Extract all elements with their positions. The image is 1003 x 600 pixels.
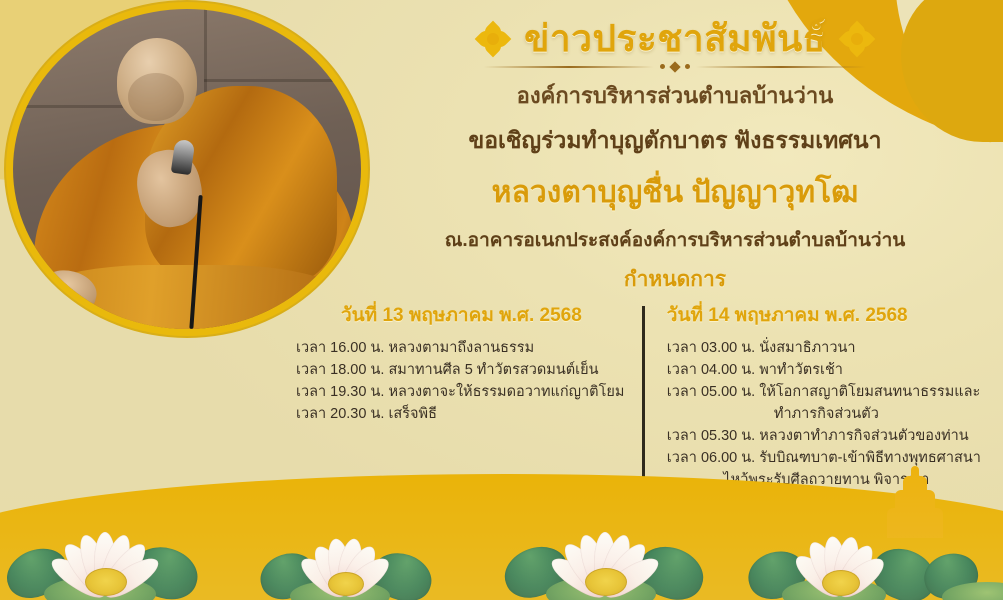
schedule-day2-heading: วันที่ 14 พฤษภาคม พ.ศ. 2568 (667, 300, 986, 330)
monk-photo-frame (6, 2, 368, 336)
monk-face-shadow (128, 73, 184, 121)
title-row: ข่าวประชาสัมพันธ์ (360, 18, 990, 61)
band-fade-overlay (0, 470, 1003, 600)
organization-name: องค์การบริหารส่วนตำบลบ้านว่าน (360, 78, 990, 113)
schedule-day1-heading: วันที่ 13 พฤษภาคม พ.ศ. 2568 (296, 300, 627, 330)
schedule-item: เวลา 16.00 น. หลวงตามาถึงลานธรรม (296, 337, 627, 359)
schedule-item: เวลา 18.00 น. สมาทานศีล 5 ทำวัตรสวดมนต์เ… (296, 359, 627, 381)
floret-icon-left (478, 24, 508, 54)
monk-name: หลวงตาบุญชื่น ปัญญาวุทโฒ (360, 169, 990, 216)
schedule-item: เวลา 20.30 น. เสร็จพิธี (296, 403, 627, 425)
title-divider-rule (360, 63, 990, 71)
schedule-item: เวลา 19.30 น. หลวงตาจะให้ธรรมดอวาทแก่ญาต… (296, 381, 627, 403)
schedule-item: เวลา 04.00 น. พาทำวัตรเช้า (667, 359, 986, 381)
header-block: ข่าวประชาสัมพันธ์ องค์การบริหารส่วนตำบลบ… (360, 18, 990, 296)
schedule-item: เวลา 03.00 น. นั่งสมาธิภาวนา (667, 337, 986, 359)
schedule-item: เวลา 05.30 น. หลวงตาทำภารกิจส่วนตัวของท่… (667, 425, 986, 447)
page-title: ข่าวประชาสัมพันธ์ (524, 18, 826, 61)
venue-line: ณ.อาคารอเนกประสงค์องค์การบริหารส่วนตำบลบ… (360, 225, 990, 255)
poster-canvas: ข่าวประชาสัมพันธ์ องค์การบริหารส่วนตำบลบ… (0, 0, 1003, 600)
photo-wall-line (204, 79, 361, 82)
invitation-line: ขอเชิญร่วมทำบุญตักบาตร ฟังธรรมเทศนา (360, 123, 990, 159)
schedule-heading: กำหนดการ (360, 263, 990, 296)
monk-photo (13, 9, 361, 329)
schedule-item-continuation: ทำภารกิจส่วนตัว (667, 403, 986, 425)
photo-wall-line (13, 105, 131, 108)
schedule-item: เวลา 05.00 น. ให้โอกาสญาติโยมสนทนาธรรมแล… (667, 381, 986, 403)
floret-icon-right (842, 24, 872, 54)
